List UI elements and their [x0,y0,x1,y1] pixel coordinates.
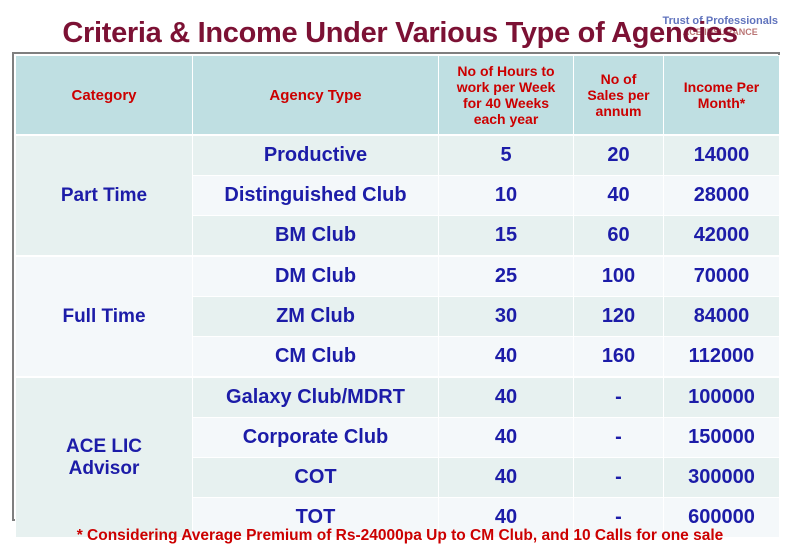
hours-cell: 40 [439,377,574,418]
sales-header-line-3: annum [596,103,642,119]
sales-cell: - [574,377,664,418]
table-row: ACE LIC Advisor Galaxy Club/MDRT 40 - 10… [16,377,780,418]
agency-cell: DM Club [193,256,439,297]
hours-header-line-1: No of Hours to [457,63,554,79]
column-header-agency-type: Agency Type [193,56,439,136]
agency-cell: BM Club [193,216,439,257]
sales-cell: 160 [574,337,664,378]
sales-cell: - [574,458,664,498]
criteria-income-table: Category Agency Type No of Hours to work… [12,52,780,521]
agency-cell: COT [193,458,439,498]
page-title: Criteria & Income Under Various Type of … [0,14,800,52]
column-header-category: Category [16,56,193,136]
sales-cell: 100 [574,256,664,297]
income-cell: 150000 [664,418,780,458]
income-cell: 84000 [664,297,780,337]
agency-cell: Galaxy Club/MDRT [193,377,439,418]
income-cell: 70000 [664,256,780,297]
income-cell: 112000 [664,337,780,378]
hours-cell: 15 [439,216,574,257]
column-header-income: Income Per Month* [664,56,780,136]
hours-cell: 25 [439,256,574,297]
agency-cell: Distinguished Club [193,176,439,216]
title-bar: Trust of Professionals ACE INSURANCE Cri… [0,14,800,52]
hours-cell: 10 [439,176,574,216]
category-line-1: ACE LIC [66,436,142,457]
table-row: Part Time Productive 5 20 14000 [16,135,780,176]
hours-cell: 30 [439,297,574,337]
table-row: Full Time DM Club 25 100 70000 [16,256,780,297]
hours-header-line-4: each year [474,111,539,127]
agency-cell: Corporate Club [193,418,439,458]
hours-cell: 40 [439,337,574,378]
sales-header-line-2: Sales per [587,87,649,103]
sales-cell: 40 [574,176,664,216]
income-cell: 300000 [664,458,780,498]
income-header-line-1: Income Per [684,79,759,95]
column-header-hours: No of Hours to work per Week for 40 Week… [439,56,574,136]
hours-header-line-3: for 40 Weeks [463,95,549,111]
income-cell: 28000 [664,176,780,216]
category-cell-full-time: Full Time [16,256,193,377]
table-header-row: Category Agency Type No of Hours to work… [16,56,780,136]
sales-cell: 20 [574,135,664,176]
table-body: Part Time Productive 5 20 14000 Distingu… [16,135,780,538]
category-cell-part-time: Part Time [16,135,193,256]
footnote: * Considering Average Premium of Rs-2400… [0,524,800,548]
income-cell: 100000 [664,377,780,418]
hours-header-line-2: work per Week [457,79,556,95]
category-cell-ace-lic-advisor: ACE LIC Advisor [16,377,193,538]
agency-cell: Productive [193,135,439,176]
agency-cell: ZM Club [193,297,439,337]
sales-cell: 60 [574,216,664,257]
hours-cell: 40 [439,458,574,498]
hours-cell: 5 [439,135,574,176]
income-cell: 14000 [664,135,780,176]
sales-header-line-1: No of [601,71,637,87]
income-header-line-2: Month* [698,95,745,111]
agency-cell: CM Club [193,337,439,378]
hours-cell: 40 [439,418,574,458]
column-header-sales: No of Sales per annum [574,56,664,136]
sales-cell: 120 [574,297,664,337]
income-cell: 42000 [664,216,780,257]
sales-cell: - [574,418,664,458]
category-line-2: Advisor [69,458,140,479]
